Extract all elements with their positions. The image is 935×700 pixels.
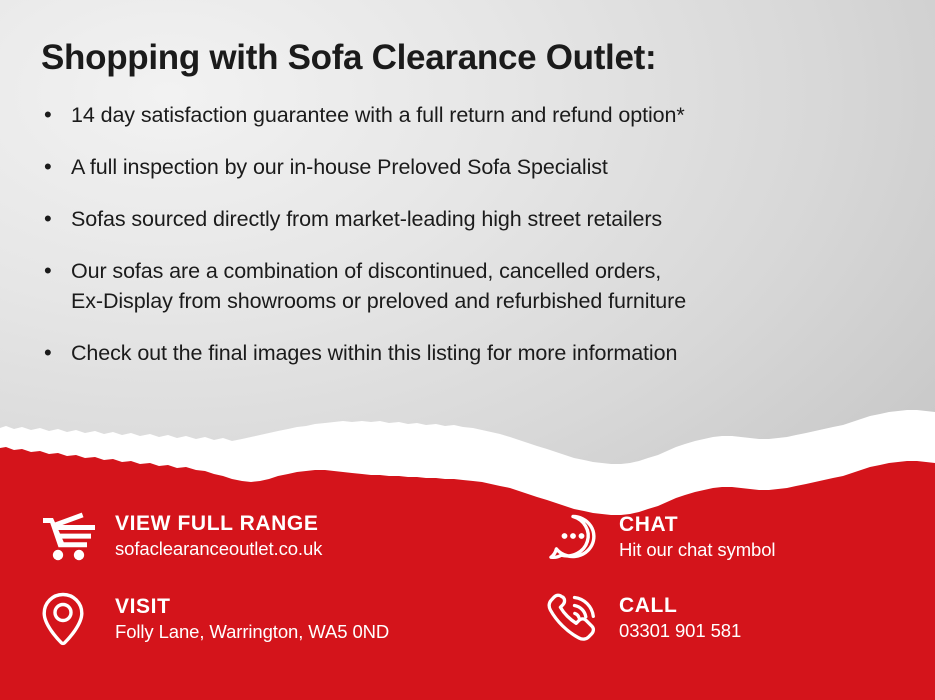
contact-text-block: CALL 03301 901 581	[619, 593, 925, 643]
promo-poster: Shopping with Sofa Clearance Outlet: • 1…	[0, 0, 935, 700]
list-item-line-1: A full inspection by our in-house Prelov…	[71, 155, 608, 179]
contact-detail: 03301 901 581	[619, 618, 925, 643]
contact-text-block: VIEW FULL RANGE sofaclearanceoutlet.co.u…	[115, 511, 471, 561]
list-item-line-1: 14 day satisfaction guarantee with a ful…	[71, 103, 685, 127]
contact-call[interactable]: CALL 03301 901 581	[545, 591, 925, 645]
list-item: • A full inspection by our in-house Prel…	[41, 152, 911, 182]
contact-detail: Hit our chat symbol	[619, 537, 925, 562]
list-item-line-2: Ex-Display from showrooms or preloved an…	[71, 286, 911, 316]
contact-title: VISIT	[115, 594, 511, 619]
contact-title: CALL	[619, 593, 925, 618]
bullet-marker-icon: •	[41, 338, 71, 368]
list-item-text: Check out the final images within this l…	[71, 338, 911, 368]
list-item-text: A full inspection by our in-house Prelov…	[71, 152, 911, 182]
list-item: • Our sofas are a combination of discont…	[41, 256, 911, 316]
list-item-text: 14 day satisfaction guarantee with a ful…	[71, 100, 911, 130]
list-item: • Check out the final images within this…	[41, 338, 911, 368]
contact-text-block: VISIT Folly Lane, Warrington, WA5 0ND	[115, 594, 511, 644]
bullet-marker-icon: •	[41, 256, 71, 286]
benefits-list: • 14 day satisfaction guarantee with a f…	[41, 100, 911, 390]
phone-call-icon	[545, 591, 619, 645]
contact-view-full-range[interactable]: VIEW FULL RANGE sofaclearanceoutlet.co.u…	[41, 510, 471, 562]
contact-footer: VIEW FULL RANGE sofaclearanceoutlet.co.u…	[0, 496, 935, 700]
shopping-cart-icon	[41, 510, 115, 562]
contact-title: VIEW FULL RANGE	[115, 511, 471, 536]
chat-bubble-icon	[545, 510, 619, 564]
list-item-line-1: Check out the final images within this l…	[71, 341, 677, 365]
list-item-line-1: Sofas sourced directly from market-leadi…	[71, 207, 662, 231]
list-item: • 14 day satisfaction guarantee with a f…	[41, 100, 911, 130]
contact-visit[interactable]: VISIT Folly Lane, Warrington, WA5 0ND	[41, 591, 511, 647]
contact-detail: sofaclearanceoutlet.co.uk	[115, 536, 471, 561]
list-item-line-1: Our sofas are a combination of discontin…	[71, 256, 911, 286]
list-item-text: Our sofas are a combination of discontin…	[71, 256, 911, 316]
list-item: • Sofas sourced directly from market-lea…	[41, 204, 911, 234]
contact-title: CHAT	[619, 512, 925, 537]
contact-detail: Folly Lane, Warrington, WA5 0ND	[115, 619, 511, 644]
list-item-text: Sofas sourced directly from market-leadi…	[71, 204, 911, 234]
bullet-marker-icon: •	[41, 152, 71, 182]
contact-chat[interactable]: CHAT Hit our chat symbol	[545, 510, 925, 564]
location-pin-icon	[41, 591, 115, 647]
bullet-marker-icon: •	[41, 204, 71, 234]
contact-text-block: CHAT Hit our chat symbol	[619, 512, 925, 562]
page-title: Shopping with Sofa Clearance Outlet:	[41, 38, 901, 78]
bullet-marker-icon: •	[41, 100, 71, 130]
